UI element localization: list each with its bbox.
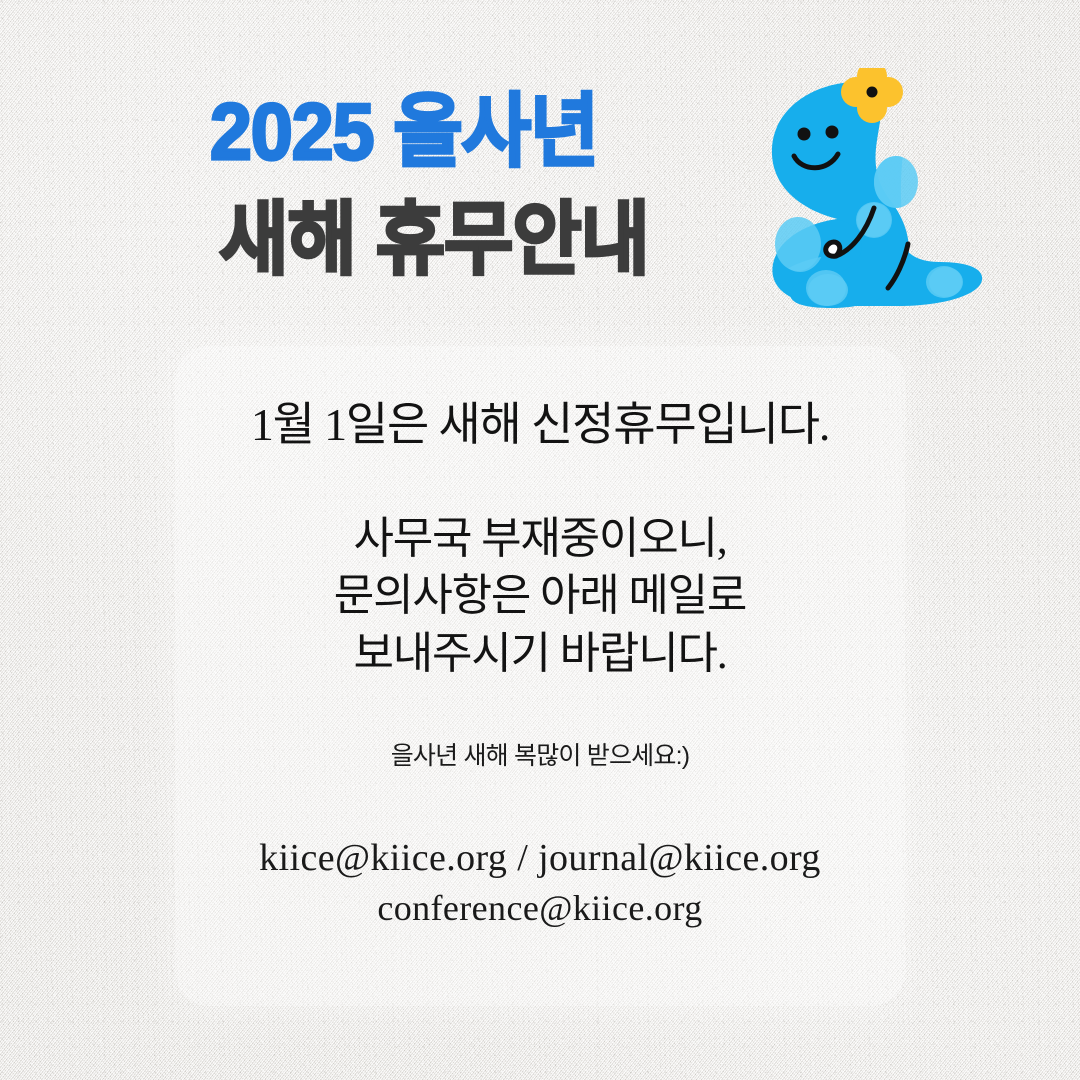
new-year-greeting-text: 을사년 새해 복많이 받으세요:)	[175, 682, 905, 772]
notice-card: 1월 1일은 새해 신정휴무입니다. 사무국 부재중이오니, 문의사항은 아래 …	[175, 346, 905, 1006]
notice-body-text: 사무국 부재중이오니, 문의사항은 아래 메일로 보내주시기 바랍니다.	[175, 452, 905, 682]
contact-email-block: kiice@kiice.org / journal@kiice.org conf…	[175, 772, 905, 934]
snake-hand-shape	[826, 242, 840, 256]
contact-email-line-2[interactable]: conference@kiice.org	[175, 884, 905, 934]
title-line-subject: 새해 휴무안내	[210, 200, 699, 280]
notice-body-line-3: 보내주시기 바랍니다.	[175, 625, 905, 682]
snake-eye-right	[826, 126, 839, 139]
snake-eye-left	[798, 128, 811, 141]
notice-body-line-2: 문의사항은 아래 메일로	[175, 567, 905, 624]
notice-lead-text: 1월 1일은 새해 신정휴무입니다.	[175, 398, 905, 452]
poster-title: 2025 을사년 새해 휴무안내	[210, 92, 730, 280]
title-line-year: 2025 을사년	[210, 92, 699, 172]
snake-mascot-illustration	[748, 68, 988, 318]
contact-email-line-1[interactable]: kiice@kiice.org / journal@kiice.org	[175, 832, 905, 884]
notice-body-line-1: 사무국 부재중이오니,	[175, 510, 905, 567]
holiday-notice-poster: 2025 을사년 새해 휴무안내	[0, 0, 1080, 1080]
poster-header: 2025 을사년 새해 휴무안내	[0, 0, 1080, 330]
